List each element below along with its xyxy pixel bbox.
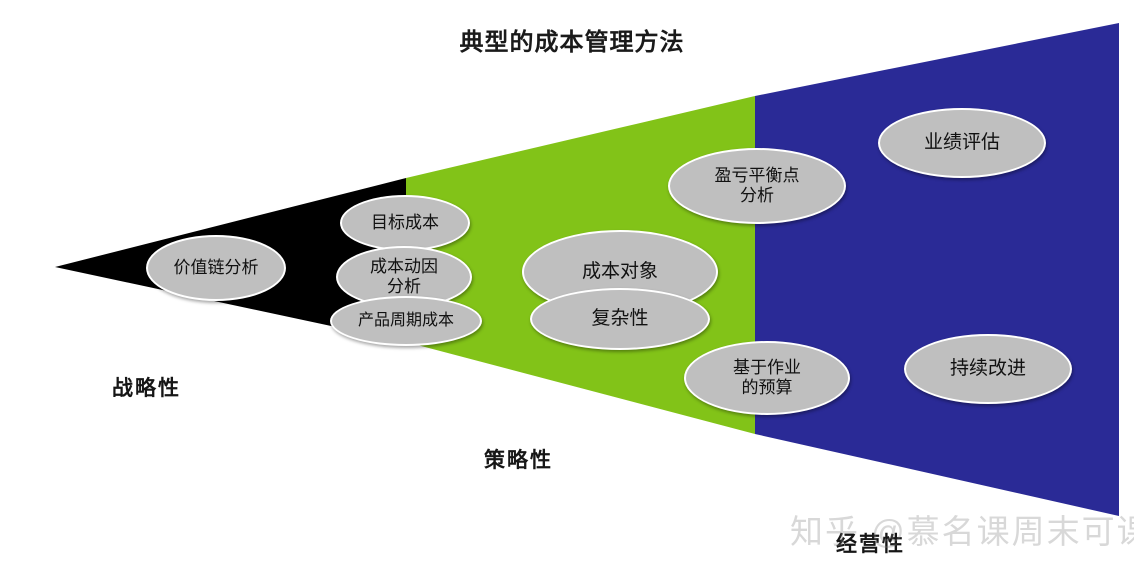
node-continuous-improvement[interactable]: 持续改进 — [904, 334, 1072, 404]
node-value-chain[interactable]: 价值链分析 — [146, 235, 286, 301]
diagram-canvas: 典型的成本管理方法 价值链分析 目标成本 成本动因 分析 产品周期成本 成本对象… — [0, 0, 1134, 574]
stage-label-operational: 经营性 — [836, 528, 905, 558]
segment-operational — [755, 23, 1119, 516]
node-breakeven-analysis[interactable]: 盈亏平衡点 分析 — [668, 148, 846, 224]
node-target-cost[interactable]: 目标成本 — [340, 195, 470, 251]
node-performance-evaluation[interactable]: 业绩评估 — [878, 108, 1046, 178]
stage-label-strategic: 战略性 — [112, 372, 181, 402]
stage-label-tactical: 策略性 — [484, 444, 553, 474]
node-product-lifecycle-cost[interactable]: 产品周期成本 — [330, 296, 482, 346]
node-complexity[interactable]: 复杂性 — [530, 288, 710, 350]
node-activity-based-budgeting[interactable]: 基于作业 的预算 — [684, 341, 850, 415]
